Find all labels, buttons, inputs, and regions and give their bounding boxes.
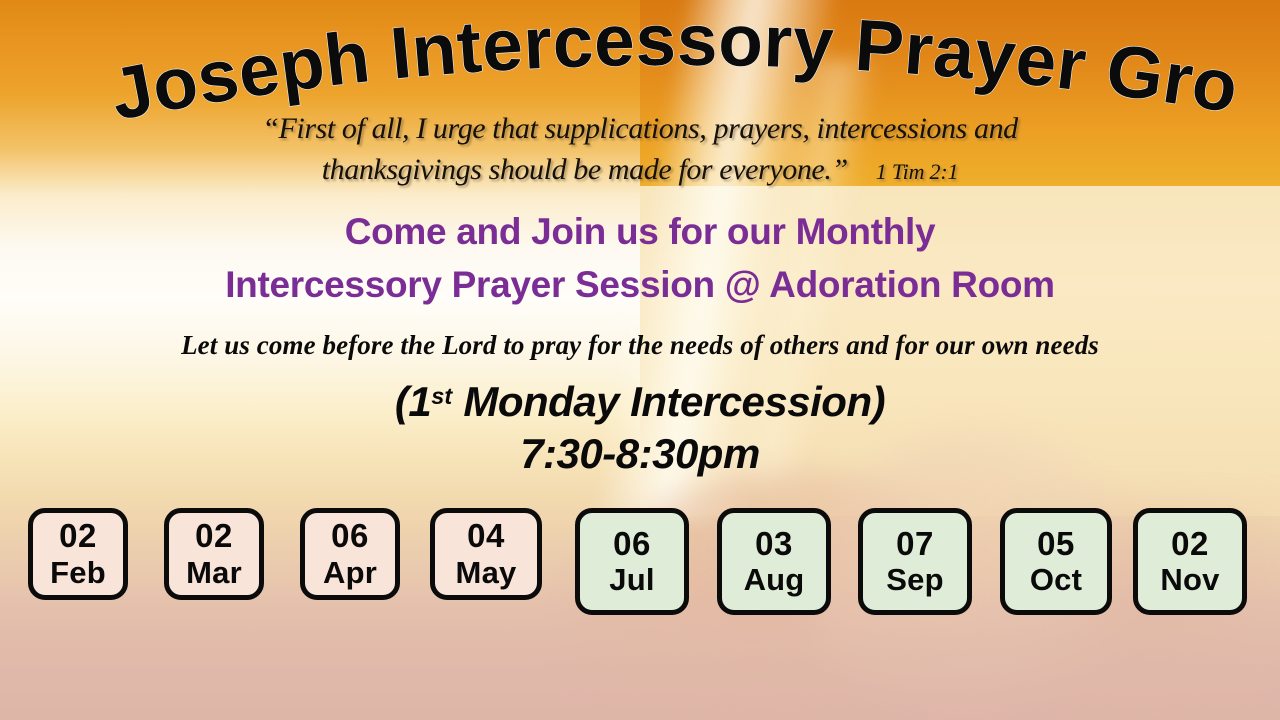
date-box-day: 03	[755, 527, 793, 561]
invitation-line-1: Come and Join us for our Monthly	[0, 206, 1280, 259]
date-box-month: Sep	[886, 564, 943, 596]
date-box-day: 05	[1037, 527, 1075, 561]
date-box-apr[interactable]: 06Apr	[300, 508, 400, 600]
date-box-month: Aug	[744, 564, 805, 596]
date-box-day: 02	[195, 519, 233, 553]
date-box-nov[interactable]: 02Nov	[1133, 508, 1247, 615]
date-box-day: 04	[467, 519, 505, 553]
intention-subline: Let us come before the Lord to pray for …	[0, 330, 1280, 361]
date-box-month: May	[456, 557, 517, 589]
date-box-day: 06	[331, 519, 369, 553]
date-box-month: Feb	[50, 557, 106, 589]
date-box-sep[interactable]: 07Sep	[858, 508, 972, 615]
date-box-feb[interactable]: 02Feb	[28, 508, 128, 600]
date-box-aug[interactable]: 03Aug	[717, 508, 831, 615]
date-box-month: Nov	[1160, 564, 1219, 596]
date-box-month: Oct	[1030, 564, 1082, 596]
quote-line-2-wrap: thanksgivings should be made for everyon…	[0, 149, 1280, 190]
date-box-day: 02	[59, 519, 97, 553]
poster-canvas: St Joseph Intercessory Prayer Group St J…	[0, 0, 1280, 720]
date-box-day: 02	[1171, 527, 1209, 561]
date-box-month: Jul	[609, 564, 654, 596]
date-box-day: 06	[613, 527, 651, 561]
date-box-jul[interactable]: 06Jul	[575, 508, 689, 615]
quote-line-1: “First of all, I urge that supplications…	[0, 108, 1280, 149]
quote-line-2: thanksgivings should be made for everyon…	[322, 153, 848, 186]
schedule-time: 7:30-8:30pm	[0, 430, 1280, 478]
date-box-month: Mar	[186, 557, 242, 589]
schedule-ordinal-suffix: st	[431, 383, 452, 409]
invitation-heading: Come and Join us for our Monthly Interce…	[0, 206, 1280, 311]
invitation-line-2: Intercessory Prayer Session @ Adoration …	[0, 259, 1280, 312]
date-box-mar[interactable]: 02Mar	[164, 508, 264, 600]
quote-reference: 1 Tim 2:1	[876, 159, 959, 184]
date-box-month: Apr	[323, 557, 377, 589]
date-box-day: 07	[896, 527, 934, 561]
date-boxes-row: 02Feb02Mar06Apr04May06Jul03Aug07Sep05Oct…	[0, 495, 1280, 615]
schedule-suffix: Monday Intercession)	[452, 378, 885, 425]
schedule-occurrence: (1st Monday Intercession)	[0, 378, 1280, 426]
scripture-quote: “First of all, I urge that supplications…	[0, 108, 1280, 191]
date-box-oct[interactable]: 05Oct	[1000, 508, 1112, 615]
schedule-prefix: (1	[395, 378, 431, 425]
date-box-may[interactable]: 04May	[430, 508, 542, 600]
